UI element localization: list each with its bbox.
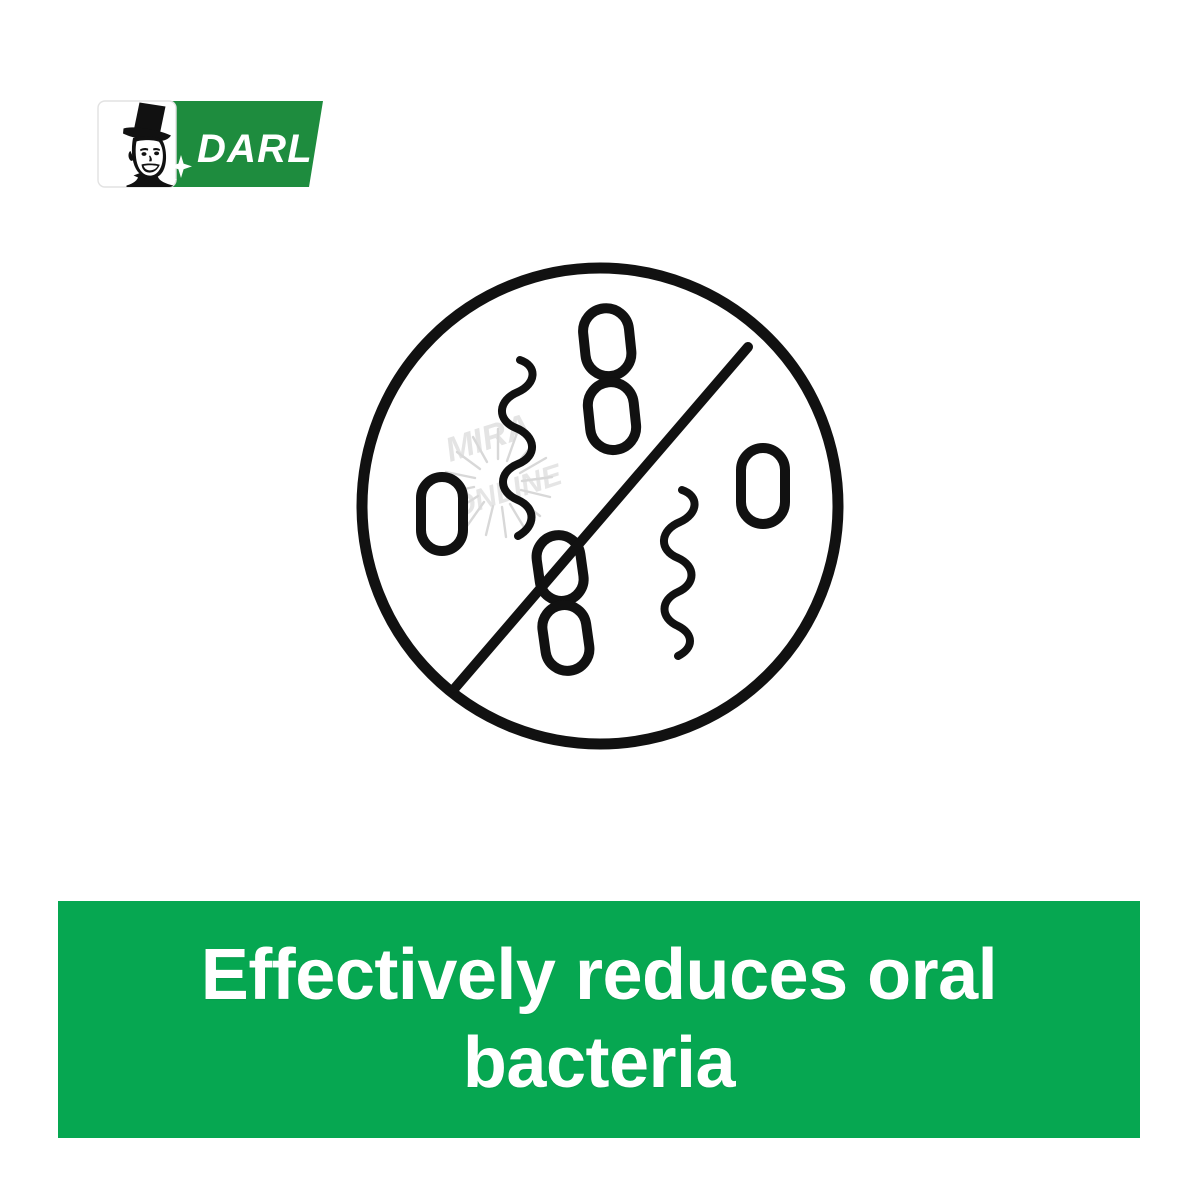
capsule-single-left: [421, 477, 463, 551]
banner-headline: Effectively reduces oral bacteria: [116, 932, 1082, 1108]
darlie-brand-logo[interactable]: DARLIE: [95, 95, 327, 193]
spirochete-right: [664, 490, 695, 656]
no-bacteria-illustration: MIRA ONLINE: [338, 248, 862, 764]
slide-canvas: DARLIE: [0, 0, 1200, 1200]
benefit-banner: Effectively reduces oral bacteria: [58, 901, 1140, 1138]
logo-wordmark-text: DARLIE: [197, 127, 327, 171]
capsule-pair-bottom-left: [530, 532, 596, 673]
capsule-single-right: [741, 448, 785, 524]
logo-wordmark: DARLIE: [197, 127, 327, 171]
capsule-pair-top: [578, 306, 642, 452]
